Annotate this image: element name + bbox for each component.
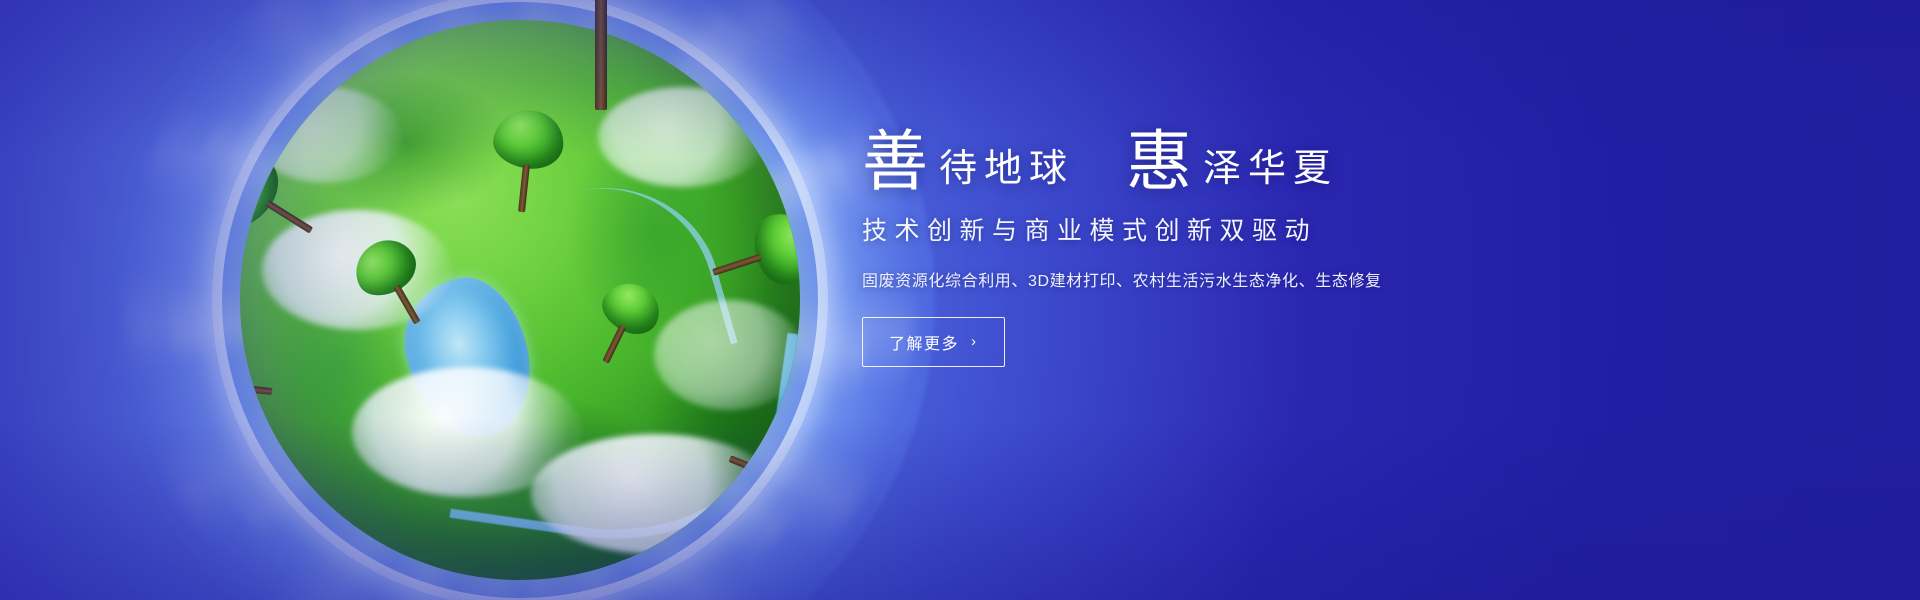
headline-primary-rest: 待地球: [929, 149, 1074, 193]
learn-more-label: 了解更多: [889, 330, 959, 354]
chevron-right-icon: ›: [971, 333, 978, 350]
hero-copy: 善 待地球 惠 泽华夏 技术创新与商业模式创新双驱动 固废资源化综合利用、3D建…: [862, 132, 1562, 367]
hero-banner: 善 待地球 惠 泽华夏 技术创新与商业模式创新双驱动 固废资源化综合利用、3D建…: [0, 0, 1920, 600]
learn-more-button[interactable]: 了解更多 ›: [862, 317, 1005, 367]
headline-primary-char: 善: [862, 132, 929, 193]
hero-subtitle: 技术创新与商业模式创新双驱动: [862, 211, 1562, 247]
headline-secondary-rest: 泽华夏: [1193, 149, 1338, 193]
headline-secondary-char: 惠: [1126, 132, 1193, 193]
page-title: 善 待地球 惠 泽华夏: [862, 132, 1562, 193]
hero-description: 固废资源化综合利用、3D建材打印、农村生活污水生态净化、生态修复: [862, 267, 1562, 291]
